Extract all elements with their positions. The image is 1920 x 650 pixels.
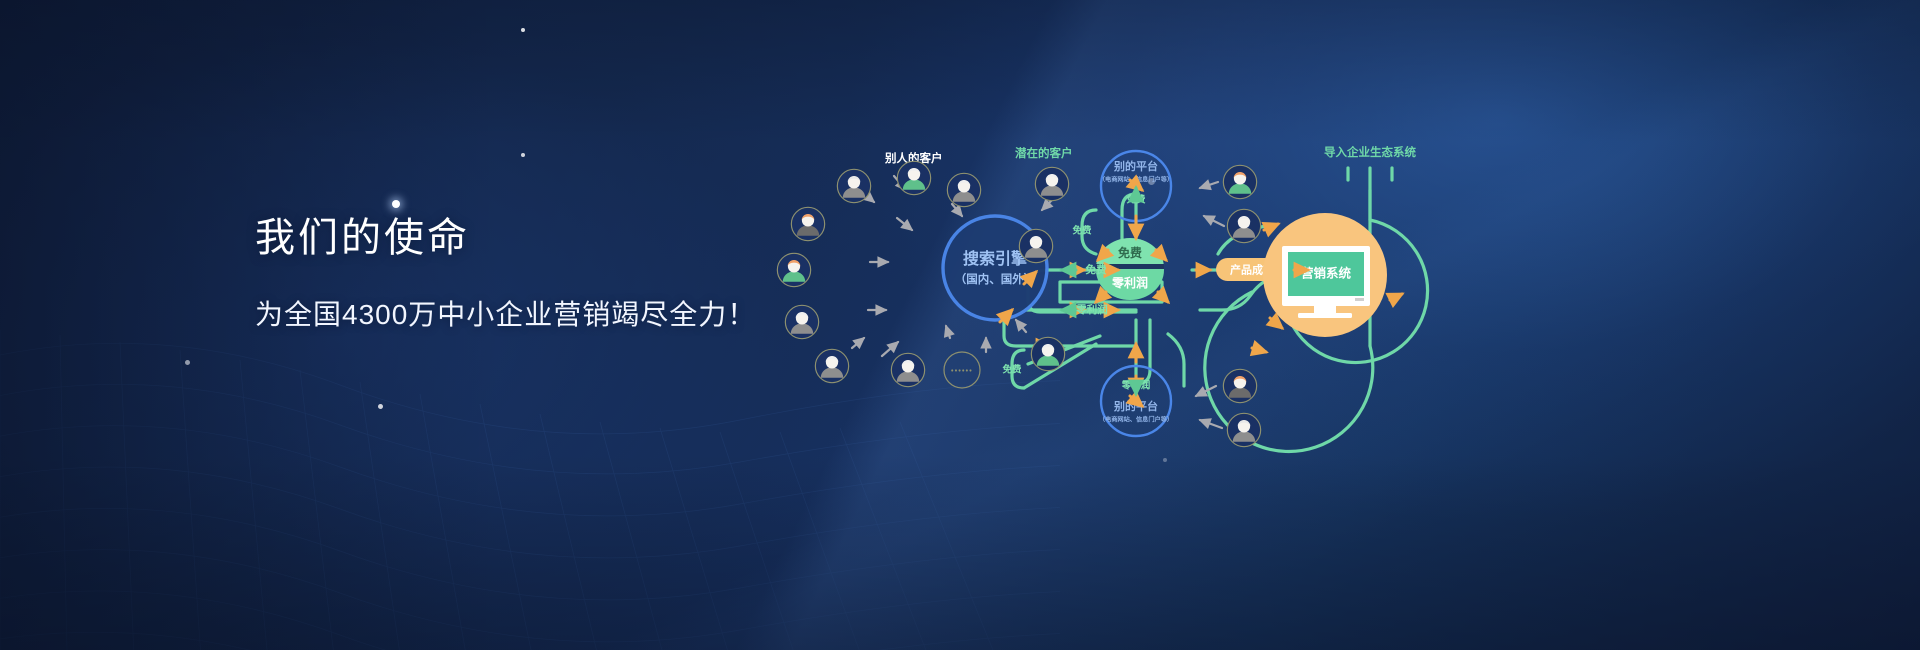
edge-label-free-left-upper: 免费 [1086,263,1108,276]
avatar-potential-right [1019,229,1052,262]
avatar-right-4 [1227,209,1260,242]
avatar-other-6 [815,349,848,382]
avatar-other-2 [947,173,980,206]
platform-top-title: 别的平台 [1113,159,1158,173]
label-import-ecosystem: 导入企业生态系统 [1324,145,1416,159]
sparkle-dot-1 [521,28,525,32]
avatar-right-1 [1035,167,1068,200]
node-marketing-system: 营销系统 [1263,213,1387,337]
sparkle-dot-5 [378,404,383,409]
hub-bottom-label: 零利润 [1111,275,1148,290]
avatar-potential-top [897,161,930,194]
more-customers-placeholder: •••••• [944,352,980,388]
avatar-other-5 [785,305,818,338]
avatar-right-5 [1223,369,1256,402]
sparkle-dot-3 [392,200,400,208]
edge-label-zero-profit-left: 零利润 [1075,303,1108,316]
label-potential-customers: 潜在的客户 [1015,146,1073,160]
avatar-right-2 [1031,337,1064,370]
avatar-other-3 [791,207,824,240]
avatar-other-7 [891,353,924,386]
sparkle-dot-2 [521,153,525,157]
marketing-ecosystem-diagram: 搜索引擎 （国内、国外） 别的平台 （电商网站、信息门户等） 免费 零利润 别的… [900,150,1520,570]
avatar-other-4 [777,253,810,286]
mission-banner: 我们的使命 为全国4300万中小企业营销竭尽全力！ [0,0,1920,650]
sparkle-dot-4 [185,360,190,365]
platform-bottom-subtitle: （电商网站、信息门户等） [1099,416,1173,424]
platform-top-subtitle: （电商网站、信息门户等） [1099,176,1173,184]
edge-label-free-top-loop: 免费 [1072,225,1092,237]
diagram-canvas: 搜索引擎 （国内、国外） 别的平台 （电商网站、信息门户等） 免费 零利润 别的… [900,150,1520,570]
hub-top-label: 免费 [1118,245,1142,260]
more-customers-dots: •••••• [951,368,973,375]
search-engine-title: 搜索引擎 [963,249,1028,268]
edge-label-free-lower-left: 免费 [1002,364,1022,376]
marketing-system-label: 营销系统 [1301,265,1352,280]
avatar-right-6 [1227,413,1260,446]
avatar-right-3 [1223,165,1256,198]
avatar-other-1 [837,169,870,202]
